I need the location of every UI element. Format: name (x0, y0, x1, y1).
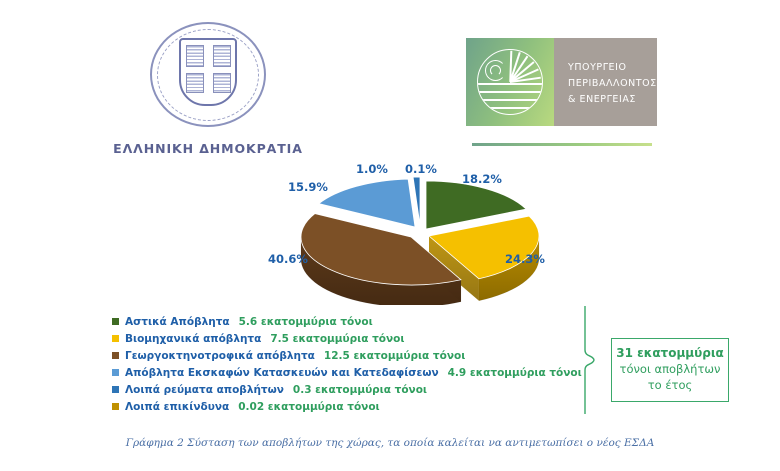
pie-label-urban: 1.0% (356, 162, 388, 176)
ministry-sun-waves-icon (466, 38, 554, 126)
shield-quadrant (213, 73, 231, 93)
legend-item-municipal[interactable]: Αστικά Απόβλητα 5.6 εκατομμύρια τόνοι (112, 313, 582, 330)
legend-value: 12.5 εκατομμύρια τόνοι (324, 350, 465, 362)
legend-label: Απόβλητα Εκσκαφών Κατασκευών και Κατεδαφ… (125, 367, 439, 379)
callout-line-1: 31 εκατομμύρια (616, 345, 724, 361)
legend-item-industrial[interactable]: Βιομηχανικά απόβλητα 7.5 εκατομμύρια τόν… (112, 330, 582, 347)
coat-of-arms-caption: ΕΛΛΗΝΙΚΗ ΔΗΜΟΚΡΑΤΙΑ (108, 141, 308, 156)
ministry-line-3: & ΕΝΕΡΓΕΙΑΣ (568, 92, 657, 108)
legend-label: Βιομηχανικά απόβλητα (125, 333, 261, 345)
callout-line-3: το έτος (616, 377, 724, 393)
legend-label: Λοιπά ρεύματα αποβλήτων (125, 384, 284, 396)
chart-legend: Αστικά Απόβλητα 5.6 εκατομμύρια τόνοι Βι… (112, 313, 582, 415)
shield-icon (179, 38, 237, 106)
greek-coat-of-arms-icon (148, 22, 268, 127)
legend-swatch-icon (112, 386, 119, 393)
legend-value: 5.6 εκατομμύρια τόνοι (239, 316, 373, 328)
total-callout-box: 31 εκατομμύρια τόνοι αποβλήτων το έτος (611, 338, 729, 402)
legend-value: 0.02 εκατομμύρια τόνοι (238, 401, 379, 413)
legend-swatch-icon (112, 369, 119, 376)
ministry-line-1: ΥΠΟΥΡΓΕΙΟ (568, 60, 657, 76)
legend-value: 0.3 εκατομμύρια τόνοι (293, 384, 427, 396)
callout-line-2: τόνοι αποβλήτων (616, 361, 724, 377)
shield-quadrant (186, 73, 204, 93)
legend-item-other-streams[interactable]: Λοιπά ρεύματα αποβλήτων 0.3 εκατομμύρια … (112, 381, 582, 398)
legend-value: 4.9 εκατομμύρια τόνοι (448, 367, 582, 379)
pie-label-agricultural: 40.6% (268, 252, 308, 266)
legend-item-agricultural[interactable]: Γεωργοκτηνοτροφικά απόβλητα 12.5 εκατομμ… (112, 347, 582, 364)
shield-quadrant (186, 45, 204, 67)
ministry-emblem-circle (477, 49, 543, 115)
legend-label: Αστικά Απόβλητα (125, 316, 230, 328)
legend-brace-icon (583, 305, 605, 415)
shield-quadrant (213, 45, 231, 67)
ministry-name-text: ΥΠΟΥΡΓΕΙΟ ΠΕΡΙΒΑΛΛΟΝΤΟΣ & ΕΝΕΡΓΕΙΑΣ (554, 38, 657, 126)
legend-value: 7.5 εκατομμύρια τόνοι (270, 333, 404, 345)
spiral-inner-icon (490, 65, 501, 76)
pie-label-industrial: 24.3% (505, 252, 545, 266)
pie-label-hazardous: 0.1% (405, 162, 437, 176)
legend-swatch-icon (112, 335, 119, 342)
legend-swatch-icon (112, 318, 119, 325)
legend-item-other-hazardous[interactable]: Λοιπά επικίνδυνα 0.02 εκατομμύρια τόνοι (112, 398, 582, 415)
pie-label-municipal: 18.2% (462, 172, 502, 186)
ministry-logo: ΥΠΟΥΡΓΕΙΟ ΠΕΡΙΒΑΛΛΟΝΤΟΣ & ΕΝΕΡΓΕΙΑΣ (466, 38, 652, 126)
ministry-logo-block: ΥΠΟΥΡΓΕΙΟ ΠΕΡΙΒΑΛΛΟΝΤΟΣ & ΕΝΕΡΓΕΙΑΣ (466, 38, 716, 146)
legend-label: Γεωργοκτηνοτροφικά απόβλητα (125, 350, 315, 362)
header-banner: ΕΛΛΗΝΙΚΗ ΔΗΜΟΚΡΑΤΙΑ (0, 0, 780, 165)
legend-swatch-icon (112, 352, 119, 359)
pie-chart: 1.0% 0.1% 18.2% 24.3% 40.6% 15.9% (250, 160, 590, 305)
legend-swatch-icon (112, 403, 119, 410)
legend-label: Λοιπά επικίνδυνα (125, 401, 229, 413)
ministry-divider-rule (472, 143, 652, 146)
figure-caption: Γράφημα 2 Σύσταση των αποβλήτων της χώρα… (0, 437, 780, 449)
legend-item-excavation[interactable]: Απόβλητα Εκσκαφών Κατασκευών και Κατεδαφ… (112, 364, 582, 381)
pie-label-excavation: 15.9% (288, 180, 328, 194)
ministry-line-2: ΠΕΡΙΒΑΛΛΟΝΤΟΣ (568, 76, 657, 92)
coat-of-arms-block: ΕΛΛΗΝΙΚΗ ΔΗΜΟΚΡΑΤΙΑ (108, 22, 308, 156)
